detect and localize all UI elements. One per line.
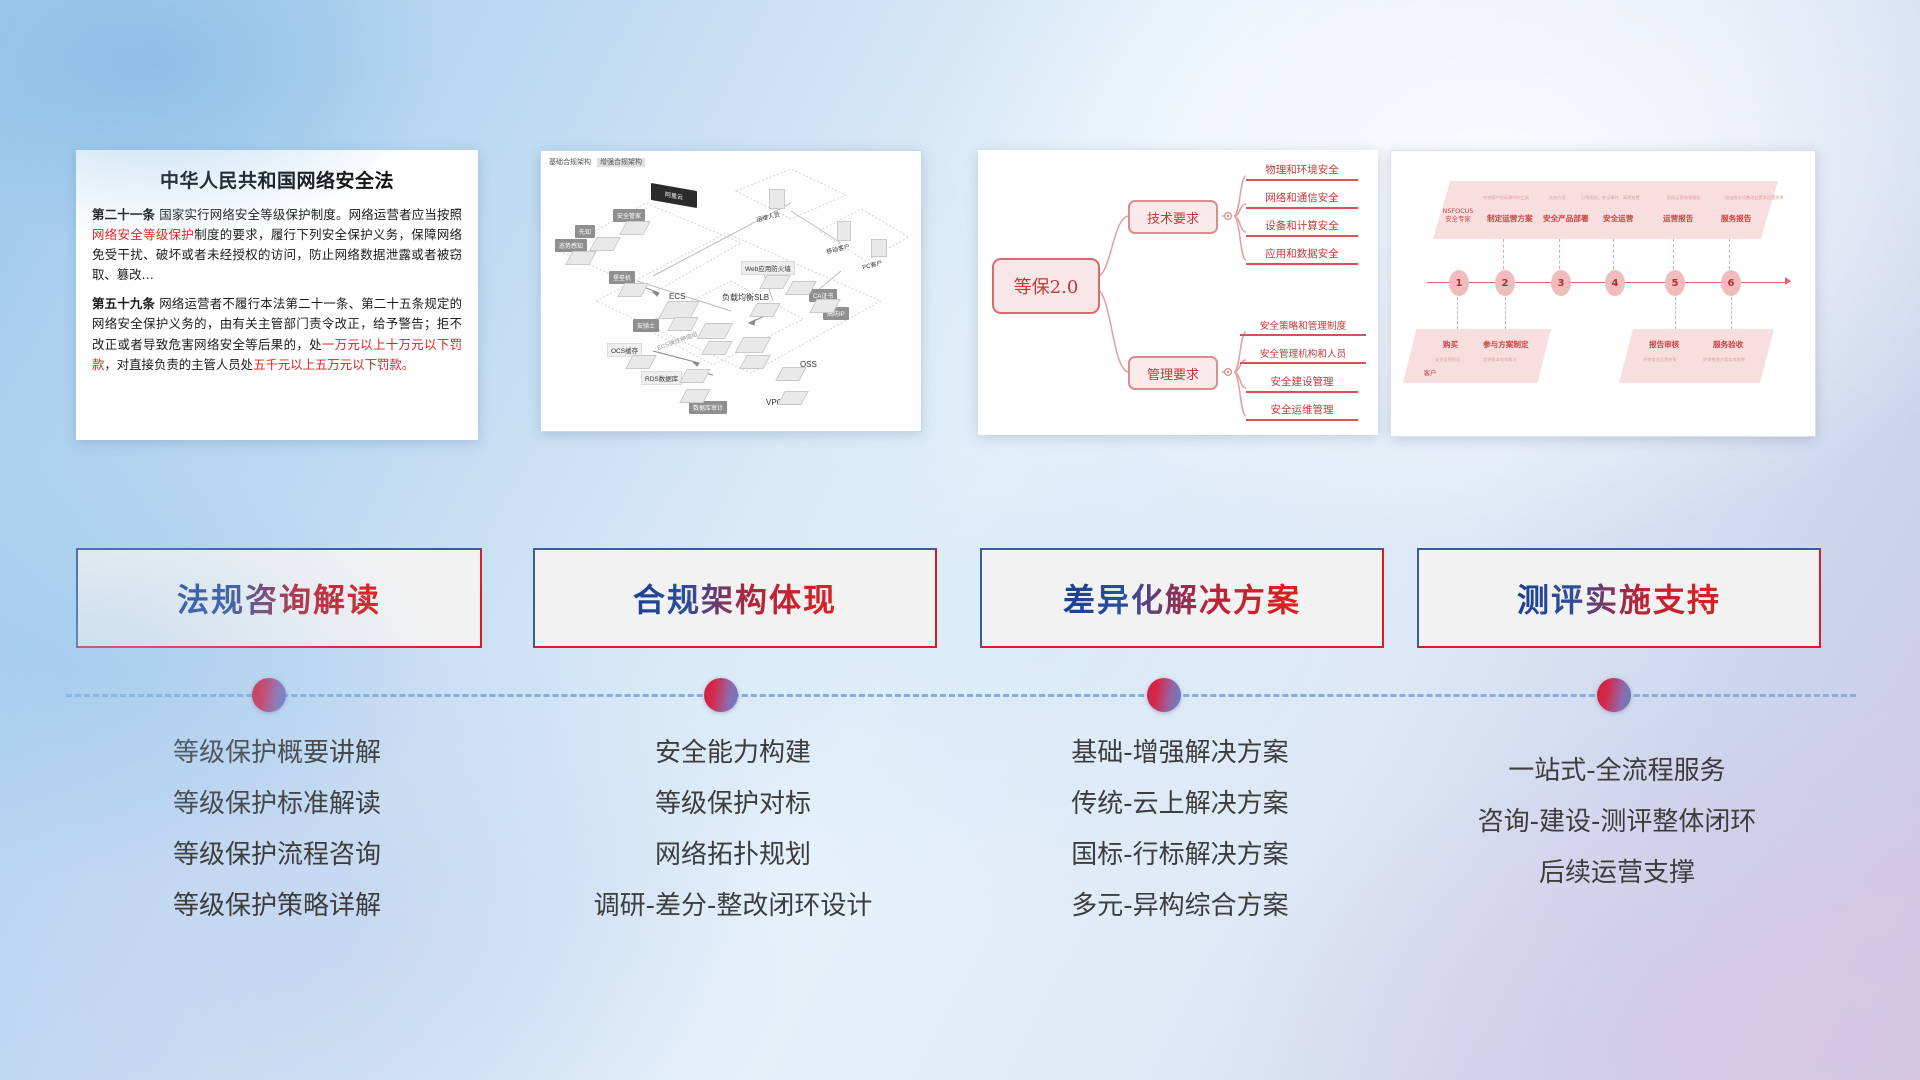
nsfocus-bottom-band-right [1619,329,1774,383]
nsfocus-top-sub-3: 实施方案 [1549,195,1566,201]
mindmap-canvas: 等保2.0 技术要求 管理要求 物理和环境安全 网络和通信安全 设备和计算安全 … [978,150,1378,435]
timeline-dashed-line [66,694,1856,697]
nsfocus-dash-5 [1673,239,1674,269]
nsfocus-step-dot-2[interactable]: 2 [1495,270,1515,296]
architecture-canvas: 基础合规架构 增强合规架构 阿里云 安全管家 先知 态势感知 堡垒机 ECS 安… [541,151,921,431]
article-21-highlight: 网络安全等级保护 [92,227,194,242]
mindmap-leaf-physical-env: 物理和环境安全 [1246,162,1358,181]
timeline-node-1[interactable] [252,678,286,712]
thumbnail-row: 中华人民共和国网络安全法 第二十一条 国家实行网络安全等级保护制度。网络运营者应… [0,150,1920,450]
timeline-node-4[interactable] [1597,678,1631,712]
column-regulation-consulting: 等级保护概要讲解 等级保护标准解读 等级保护流程咨询 等级保护策略详解 [76,728,478,932]
law-article-21: 第二十一条 国家实行网络安全等级保护制度。网络运营者应当按照网络安全等级保护制度… [92,205,462,285]
nsfocus-step-dot-3[interactable]: 3 [1551,270,1571,296]
nsfocus-step-dot-5[interactable]: 5 [1665,270,1685,296]
article-59-fine-2: 五千元以上五万元以下罚款。 [253,357,414,372]
law-title: 中华人民共和国网络安全法 [92,166,462,193]
list-item: 传统-云上解决方案 [980,779,1380,830]
column-differentiated-solution: 基础-增强解决方案 传统-云上解决方案 国标-行标解决方案 多元-异构综合方案 [980,728,1380,932]
nsfocus-axis-arrow [1785,277,1791,285]
nsfocus-dash-3 [1559,239,1560,269]
list-item: 等级保护策略详解 [76,881,478,932]
mindmap-leaf-policy-system: 安全策略和管理制度 [1240,318,1366,336]
nsfocus-expert-label: NSFOCUS安全专家 [1431,207,1485,223]
banner-differentiated-solution[interactable]: 差异化解决方案 [980,548,1384,648]
nsfocus-bottom-step-1: 购买 [1443,339,1458,350]
nsfocus-bottom-step-2: 参与方案制定 [1483,339,1529,350]
node-mobile-client-icon [837,221,851,241]
nsfocus-top-sub-4: 日常巡检、安全事件、高简处置 [1581,195,1640,201]
nsfocus-top-step-3: 安全产品部署 [1543,213,1589,224]
thumbnail-mindmap[interactable]: 等保2.0 技术要求 管理要求 物理和环境安全 网络和通信安全 设备和计算安全 … [978,150,1378,435]
nsfocus-dash-1b [1457,297,1458,329]
list-item: 调研-差分-整改闭环设计 [533,881,933,932]
article-59-mid: ，对直接负责的主管人员处 [104,357,253,372]
law-document-body: 中华人民共和国网络安全法 第二十一条 国家实行网络安全等级保护制度。网络运营者应… [76,150,478,440]
mindmap-leaf-device-compute: 设备和计算安全 [1246,218,1358,237]
node-pc-client-icon [871,239,887,257]
nsfocus-step-dot-6[interactable]: 6 [1721,270,1741,296]
mindmap-branch-technical[interactable]: 技术要求 [1128,200,1218,234]
banner-regulation-consulting[interactable]: 法规咨询解读 [76,548,482,648]
article-21-number: 第二十一条 [92,207,155,222]
nsfocus-bottom-sub-6: 评审整改方案实效效果 [1703,357,1745,363]
nsfocus-bottom-sub-5: 评审安全运营效果 [1643,357,1677,363]
banner-row: 法规咨询解读 合规架构体现 差异化解决方案 测评实施支持 [0,548,1920,648]
nsfocus-top-step-4: 安全运营 [1603,213,1633,224]
timeline [0,672,1920,720]
nsfocus-bottom-sub-2: 提供基本现状情况 [1483,357,1517,363]
nsfocus-dash-4 [1613,239,1614,269]
nsfocus-top-step-6: 服务报告 [1721,213,1751,224]
banner-label-2: 合规架构体现 [633,575,837,621]
nsfocus-top-sub-5: 阶段运营效果报告 [1667,195,1701,201]
banner-compliance-architecture[interactable]: 合规架构体现 [533,548,937,648]
nsfocus-dash-2b [1505,297,1506,329]
thumbnail-nsfocus-timeline[interactable]: NSFOCUS安全专家 客户 符合客户实际需明的工具 制定运营方案 实施方案 安… [1390,150,1816,437]
nsfocus-top-sub-2: 符合客户实际需明的工具 [1483,195,1529,201]
nsfocus-top-step-2: 制定运营方案 [1487,213,1533,224]
list-item: 基础-增强解决方案 [980,728,1380,779]
article-21-lead: 国家实行网络安全等级保护制度。网络运营者应当按照 [155,207,462,222]
mindmap-leaf-construction-mgmt: 安全建设管理 [1246,374,1358,393]
list-item: 安全能力构建 [533,728,933,779]
tag-enhanced-compliance: 增强合规架构 [597,158,645,167]
nsfocus-top-sub-6: 给出服务项整改处置本运营效果 [1725,195,1784,201]
nsfocus-customer-label: 客户 [1415,369,1445,377]
banner-label-4: 测评实施支持 [1517,575,1721,621]
nsfocus-dash-2 [1503,239,1504,269]
list-item: 网络拓扑规划 [533,830,933,881]
thumbnail-law-document[interactable]: 中华人民共和国网络安全法 第二十一条 国家实行网络安全等级保护制度。网络运营者应… [76,150,478,440]
nsfocus-step-dot-4[interactable]: 4 [1605,270,1625,296]
nsfocus-dash-6b [1731,297,1732,329]
list-item: 咨询-建设-测评整体闭环 [1417,797,1817,848]
tag-basic-compliance: 基础合规架构 [549,159,591,166]
mindmap-leaf-app-data: 应用和数据安全 [1246,246,1358,265]
mindmap-root-node[interactable]: 等保2.0 [992,258,1100,314]
timeline-node-3[interactable] [1147,678,1181,712]
label-rds: RDS数据库 [641,371,682,385]
thumbnail-cloud-architecture[interactable]: 基础合规架构 增强合规架构 阿里云 安全管家 先知 态势感知 堡垒机 ECS 安… [540,150,922,432]
mindmap-branch-management[interactable]: 管理要求 [1128,356,1218,390]
article-59-number: 第五十九条 [92,296,155,311]
list-item: 后续运营支撑 [1417,848,1817,899]
label-waf: Web应用防火墙 [741,261,795,275]
list-item: 等级保护概要讲解 [76,728,478,779]
mindmap-leaf-ops-mgmt: 安全运维管理 [1246,402,1358,421]
column-assessment-support: 一站式-全流程服务 咨询-建设-测评整体闭环 后续运营支撑 [1417,746,1817,899]
law-article-59: 第五十九条 网络运营者不履行本法第二十一条、第二十五条规定的网络安全保护义务的，… [92,294,462,374]
list-item: 等级保护流程咨询 [76,830,478,881]
banner-assessment-support[interactable]: 测评实施支持 [1417,548,1821,648]
mindmap-leaf-org-personnel: 安全管理机构和人员 [1240,346,1366,364]
nsfocus-bottom-step-6: 服务验收 [1713,339,1743,350]
mindmap-leaf-network-comm: 网络和通信安全 [1246,190,1358,209]
banner-label-3: 差异化解决方案 [1063,575,1301,621]
list-item: 多元-异构综合方案 [980,881,1380,932]
nsfocus-canvas: NSFOCUS安全专家 客户 符合客户实际需明的工具 制定运营方案 实施方案 安… [1391,151,1815,436]
list-item: 等级保护标准解读 [76,779,478,830]
list-item: 等级保护对标 [533,779,933,830]
nsfocus-step-dot-1[interactable]: 1 [1449,270,1469,296]
node-ops-person-icon [769,189,785,209]
nsfocus-bottom-step-5: 报告审核 [1649,339,1679,350]
nsfocus-top-step-5: 运营报告 [1663,213,1693,224]
feature-lists: 等级保护概要讲解 等级保护标准解读 等级保护流程咨询 等级保护策略详解 安全能力… [0,728,1920,958]
architecture-tags: 基础合规架构 增强合规架构 [549,157,645,167]
nsfocus-dash-5b [1675,297,1676,329]
slide-root: 中华人民共和国网络安全法 第二十一条 国家实行网络安全等级保护制度。网络运营者应… [0,0,1920,1080]
nsfocus-bottom-sub-1: 安全运营报告 [1435,357,1460,363]
list-item: 国标-行标解决方案 [980,830,1380,881]
timeline-node-2[interactable] [704,678,738,712]
nsfocus-dash-6 [1729,239,1730,269]
label-anqishi: 安骑士 [633,319,659,332]
label-xianzhi: 先知 [575,225,595,238]
list-item: 一站式-全流程服务 [1417,746,1817,797]
banner-label-1: 法规咨询解读 [177,575,381,621]
column-compliance-architecture: 安全能力构建 等级保护对标 网络拓扑规划 调研-差分-整改闭环设计 [533,728,933,932]
